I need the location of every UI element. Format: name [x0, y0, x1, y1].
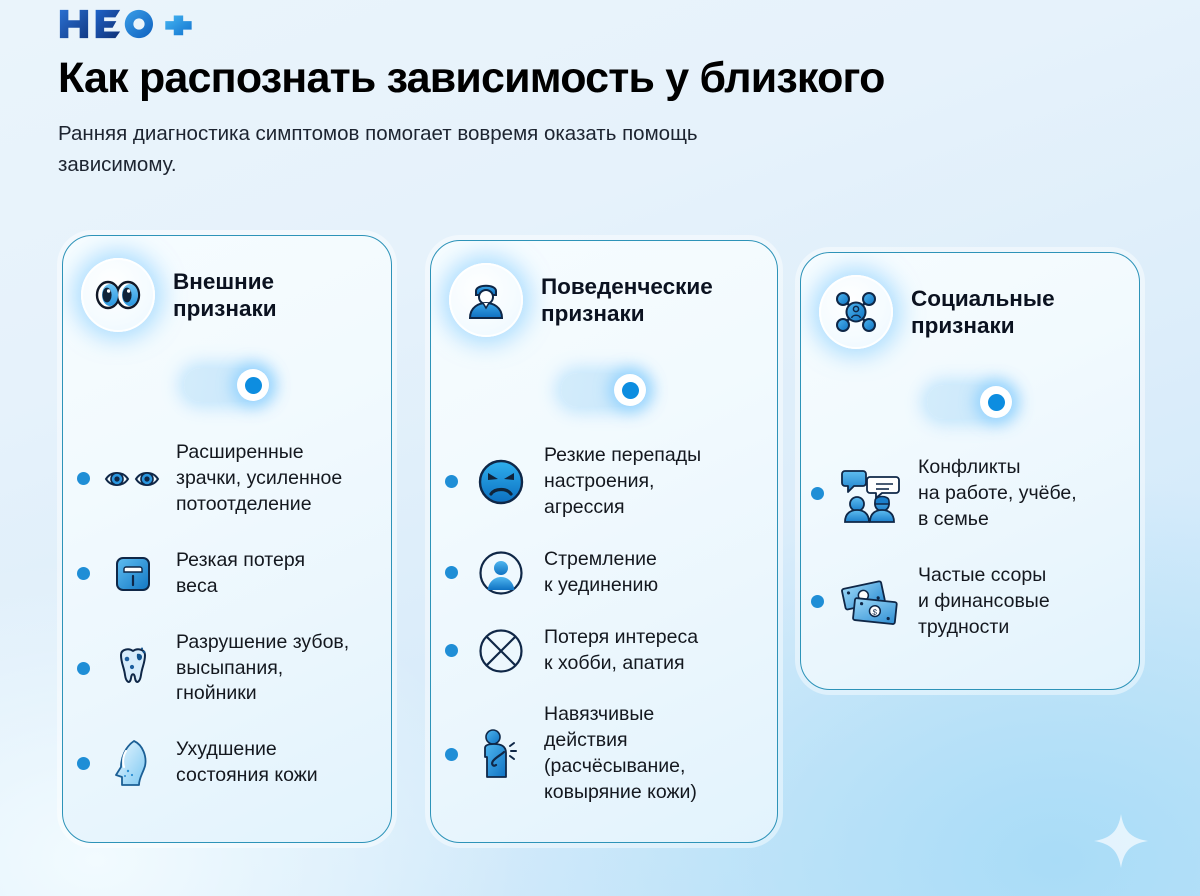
money-banknotes-icon: $ — [836, 576, 906, 628]
list-item: Конфликты на работе, учёбе, в семье — [811, 455, 1125, 533]
item-text: Навязчивые действия (расчёсывание, ковыр… — [544, 702, 697, 806]
signs-list: Расширенные зрачки, усиленное потоотделе… — [63, 402, 391, 837]
item-text: Разрушение зубов, высыпания, гнойники — [176, 630, 349, 708]
user-circle-icon — [470, 549, 532, 597]
list-item: Резкая потеря веса — [77, 548, 377, 600]
card-toggle-switch[interactable] — [184, 368, 270, 402]
card-header: Внешние признаки — [63, 236, 391, 332]
item-text: Резкие перепады настроения, агрессия — [544, 443, 701, 521]
social-network-icon — [819, 275, 893, 349]
toggle-wrapper — [801, 349, 1139, 419]
card-title: Социальные признаки — [911, 285, 1055, 340]
list-item: Потеря интереса к хобби, апатия — [445, 625, 763, 677]
bullet-dot — [445, 475, 458, 488]
item-text: Потеря интереса к хобби, апатия — [544, 625, 698, 677]
toggle-knob[interactable] — [980, 386, 1012, 418]
item-text: Расширенные зрачки, усиленное потоотделе… — [176, 440, 342, 518]
tooth-decay-icon — [102, 645, 164, 691]
bullet-dot — [445, 644, 458, 657]
signs-list: Резкие перепады настроения, агрессия — [431, 407, 777, 843]
bullet-dot — [77, 757, 90, 770]
bullet-dot — [445, 566, 458, 579]
dilated-pupils-icon — [102, 466, 164, 492]
list-item: Разрушение зубов, высыпания, гнойники — [77, 630, 377, 708]
scratching-person-icon — [470, 727, 532, 781]
card-toggle-switch[interactable] — [561, 373, 647, 407]
bullet-dot — [811, 595, 824, 608]
card-behavioral-signs: Поведенческие признаки — [430, 240, 778, 843]
conflict-people-icon — [836, 465, 906, 523]
item-text: Стремление к уединению — [544, 547, 658, 599]
toggle-knob[interactable] — [237, 369, 269, 401]
item-text: Частые ссоры и финансовые трудности — [918, 563, 1050, 641]
card-title: Поведенческие признаки — [541, 273, 713, 328]
signs-list: Конфликты на работе, учёбе, в семье — [801, 419, 1139, 689]
no-hobby-crossed-icon — [470, 627, 532, 675]
face-skin-icon — [102, 738, 164, 788]
bullet-dot — [77, 662, 90, 675]
list-item: Резкие перепады настроения, агрессия — [445, 443, 763, 521]
card-header: Социальные признаки — [801, 253, 1139, 349]
list-item: Ухудшение состояния кожи — [77, 737, 377, 789]
item-text: Ухудшение состояния кожи — [176, 737, 318, 789]
list-item: $ Частые ссоры и финансовые трудности — [811, 563, 1125, 641]
item-text: Резкая потеря веса — [176, 548, 305, 600]
card-header: Поведенческие признаки — [431, 241, 777, 337]
weight-scale-icon — [102, 553, 164, 595]
list-item: Навязчивые действия (расчёсывание, ковыр… — [445, 702, 763, 806]
eyes-icon — [81, 258, 155, 332]
cards-container: Внешние признаки — [0, 0, 1200, 896]
sparkle-star-icon — [1094, 814, 1148, 868]
bullet-dot — [77, 567, 90, 580]
toggle-wrapper — [431, 337, 777, 407]
bullet-dot — [445, 748, 458, 761]
angry-face-icon — [470, 458, 532, 506]
toggle-wrapper — [63, 332, 391, 402]
item-text: Конфликты на работе, учёбе, в семье — [918, 455, 1077, 533]
person-avatar-icon — [449, 263, 523, 337]
list-item: Стремление к уединению — [445, 547, 763, 599]
bullet-dot — [811, 487, 824, 500]
card-title: Внешние признаки — [173, 268, 277, 323]
card-toggle-switch[interactable] — [927, 385, 1013, 419]
bullet-dot — [77, 472, 90, 485]
list-item: Расширенные зрачки, усиленное потоотделе… — [77, 440, 377, 518]
card-external-signs: Внешние признаки — [62, 235, 392, 843]
toggle-knob[interactable] — [614, 374, 646, 406]
card-social-signs: Социальные признаки — [800, 252, 1140, 690]
